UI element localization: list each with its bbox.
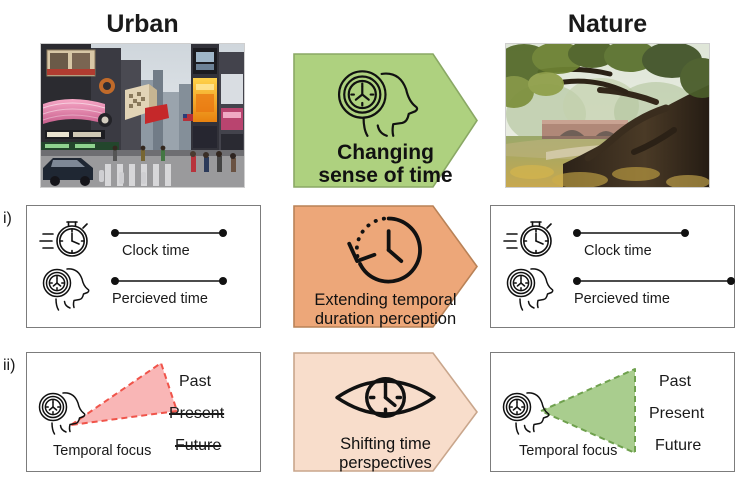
perspective-label-present: Present — [169, 405, 224, 423]
clock-time-label: Clock time — [584, 243, 652, 259]
arrow-extending-temporal-duration-perception: Extending temporal duration perception — [293, 205, 478, 328]
urban-photo-illustration — [41, 44, 245, 188]
head-with-clock-icon — [41, 264, 97, 316]
panel-row-ii-nature: Temporal focus Past Present Future — [490, 352, 735, 472]
row-label-i: i) — [3, 210, 12, 228]
perceived-time-label: Percieved time — [574, 291, 670, 307]
head-with-clock-icon — [505, 264, 561, 316]
perspective-label-future: Future — [175, 437, 221, 455]
clock-time-duration-line — [109, 227, 229, 239]
arrow-shifting-time-perspectives: Shifting time perspectives — [293, 352, 478, 472]
arrow-shape-green — [293, 53, 478, 188]
perceived-time-duration-line — [571, 275, 737, 287]
head-with-clock-icon — [501, 388, 557, 440]
column-title-urban: Urban — [40, 10, 245, 39]
perceived-time-duration-line — [109, 275, 229, 287]
perspective-label-past: Past — [659, 373, 691, 391]
perspective-label-past: Past — [179, 373, 211, 391]
panel-row-i-urban: Clock time Percieved time — [26, 205, 261, 328]
arrow-shape-orange — [293, 205, 478, 328]
panel-row-ii-urban: Temporal focus Past Present Future — [26, 352, 261, 472]
arrow-changing-sense-of-time: Changing sense of time — [293, 53, 478, 188]
stopwatch-icon — [39, 215, 95, 261]
column-title-nature: Nature — [505, 10, 710, 39]
arrow-shape-peach — [293, 352, 478, 472]
figure-canvas: Urban Nature — [0, 0, 754, 483]
row-label-ii: ii) — [3, 357, 15, 375]
panel-row-i-nature: Clock time Percieved time — [490, 205, 735, 328]
stopwatch-icon — [503, 215, 559, 261]
perceived-time-label: Percieved time — [112, 291, 208, 307]
perspective-label-future: Future — [655, 437, 701, 455]
clock-time-duration-line — [571, 227, 691, 239]
clock-time-label: Clock time — [122, 243, 190, 259]
photo-nature — [505, 43, 710, 188]
head-with-clock-icon — [37, 388, 93, 440]
nature-photo-illustration — [506, 44, 710, 188]
perspective-label-present: Present — [649, 405, 704, 423]
temporal-focus-label: Temporal focus — [53, 443, 151, 459]
photo-urban — [40, 43, 245, 188]
temporal-focus-label: Temporal focus — [519, 443, 617, 459]
